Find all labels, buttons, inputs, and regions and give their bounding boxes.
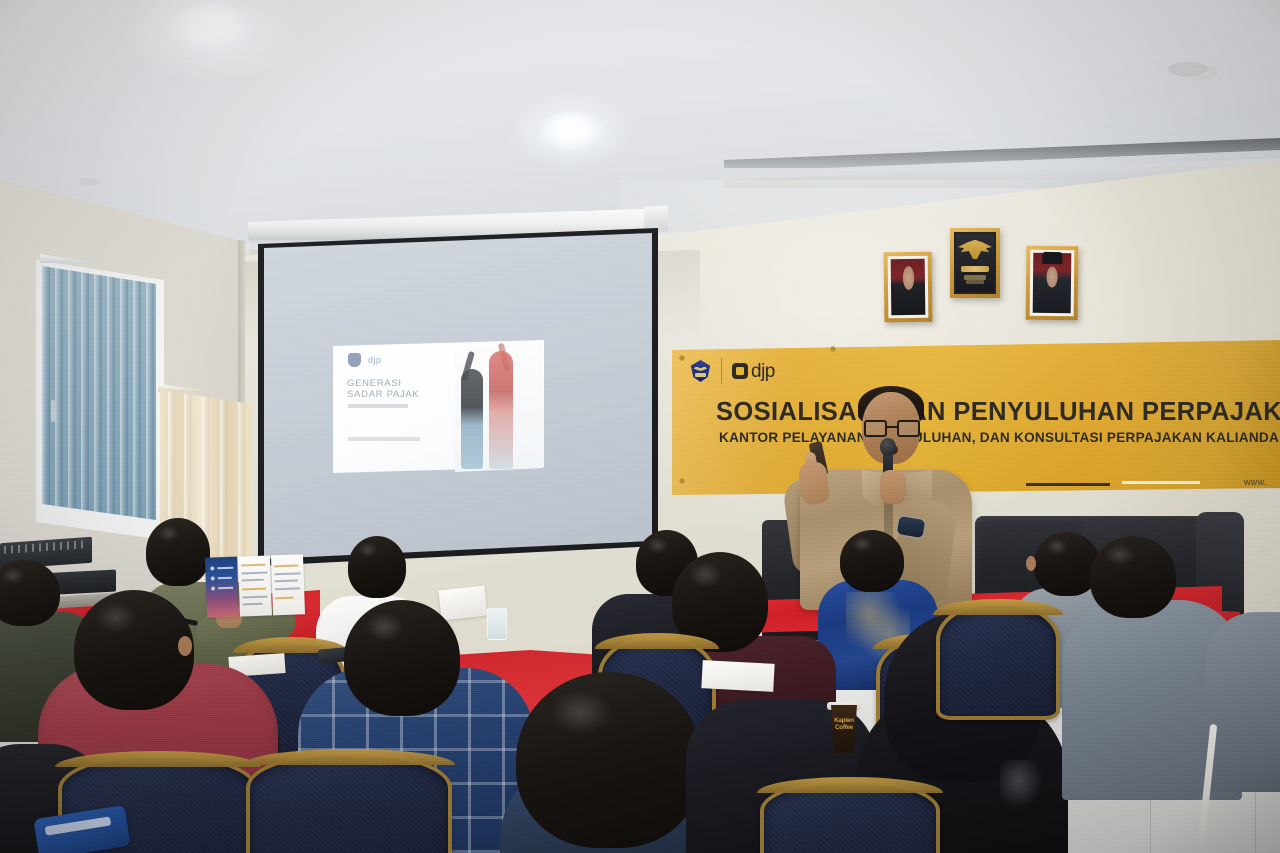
banner-subtitle: KANTOR PELAYANAN, PENYULUHAN, DAN KONSUL… xyxy=(719,430,1280,445)
slide-subtitle-bar xyxy=(348,404,408,408)
water-glass[interactable] xyxy=(487,608,507,640)
attendee-plaid-blue-shirt-head xyxy=(344,600,460,716)
speaker-left-hand xyxy=(798,460,831,505)
portrait-vice-president-frame xyxy=(1026,246,1079,321)
hijab-embroidery xyxy=(1000,760,1046,812)
kemenkeu-logo-icon xyxy=(348,353,361,367)
paper-stack[interactable] xyxy=(439,586,488,621)
slide-djp-label: djp xyxy=(368,355,382,365)
ceiling-vent-icon xyxy=(1168,62,1208,76)
seminar-room-photo: djp GENERASI SADAR PAJAK djp xyxy=(0,0,1280,853)
attendee-olive-shirt-head xyxy=(146,518,210,586)
banner-grommet xyxy=(679,478,685,484)
slide-title-line1: GENERASI xyxy=(347,378,419,389)
garuda-pancasila-icon xyxy=(956,234,994,292)
portrait-vice-president-photo xyxy=(1033,253,1072,313)
microphone-icon[interactable] xyxy=(880,438,896,456)
djp-logo-icon: djp xyxy=(732,362,775,381)
banner-grommet xyxy=(830,346,836,352)
ceiling-downlight-icon xyxy=(540,112,602,150)
banner-logo-group: djp xyxy=(690,358,775,384)
attendee-maroon-shirt-head xyxy=(74,590,194,710)
portrait-president-photo xyxy=(891,259,926,315)
kemenkeu-logo-icon xyxy=(690,360,711,382)
slide-title-line2: SADAR PAJAK xyxy=(347,389,419,400)
attendee-batik-blue-head xyxy=(840,530,904,592)
slide-footer-bar xyxy=(348,437,420,441)
attendee-grey-blue-shirt-head xyxy=(1090,536,1176,618)
vertical-blinds[interactable] xyxy=(42,262,156,524)
slide-title: GENERASI SADAR PAJAK xyxy=(347,378,419,400)
banner-grommet xyxy=(679,355,685,361)
banner-rule xyxy=(1026,483,1110,486)
banquet-chair[interactable] xyxy=(936,602,1060,720)
ceiling-downlight-icon xyxy=(168,2,254,54)
garuda-pancasila-frame xyxy=(950,228,1000,298)
slide-photo xyxy=(455,341,543,472)
banner-rule-light xyxy=(1122,481,1200,484)
banquet-chair[interactable] xyxy=(760,780,940,853)
logo-divider xyxy=(721,358,722,384)
speaker-right-hand xyxy=(880,470,906,504)
tri-fold-brochure[interactable] xyxy=(205,554,305,617)
attendee-blue-shirt-front-head xyxy=(516,672,702,848)
banner-url: www. xyxy=(1244,477,1267,487)
eyeglasses-icon xyxy=(864,420,920,437)
banner-title: SOSIALISASI DAN PENYULUHAN PERPAJAKAN xyxy=(716,398,1280,427)
banquet-chair[interactable] xyxy=(246,752,452,853)
djp-logo-label: djp xyxy=(751,362,775,381)
attendee-white-shirt-head xyxy=(348,536,406,598)
attendee-partial-right-body xyxy=(1206,612,1280,792)
slide-logo: djp xyxy=(348,353,382,367)
portrait-president-frame xyxy=(884,252,933,323)
coffee-cup-label: Kapten Coffee xyxy=(831,718,857,731)
ceiling-speaker-icon xyxy=(78,178,100,186)
handout-paper[interactable] xyxy=(701,660,774,692)
blind-chain[interactable] xyxy=(51,400,55,422)
